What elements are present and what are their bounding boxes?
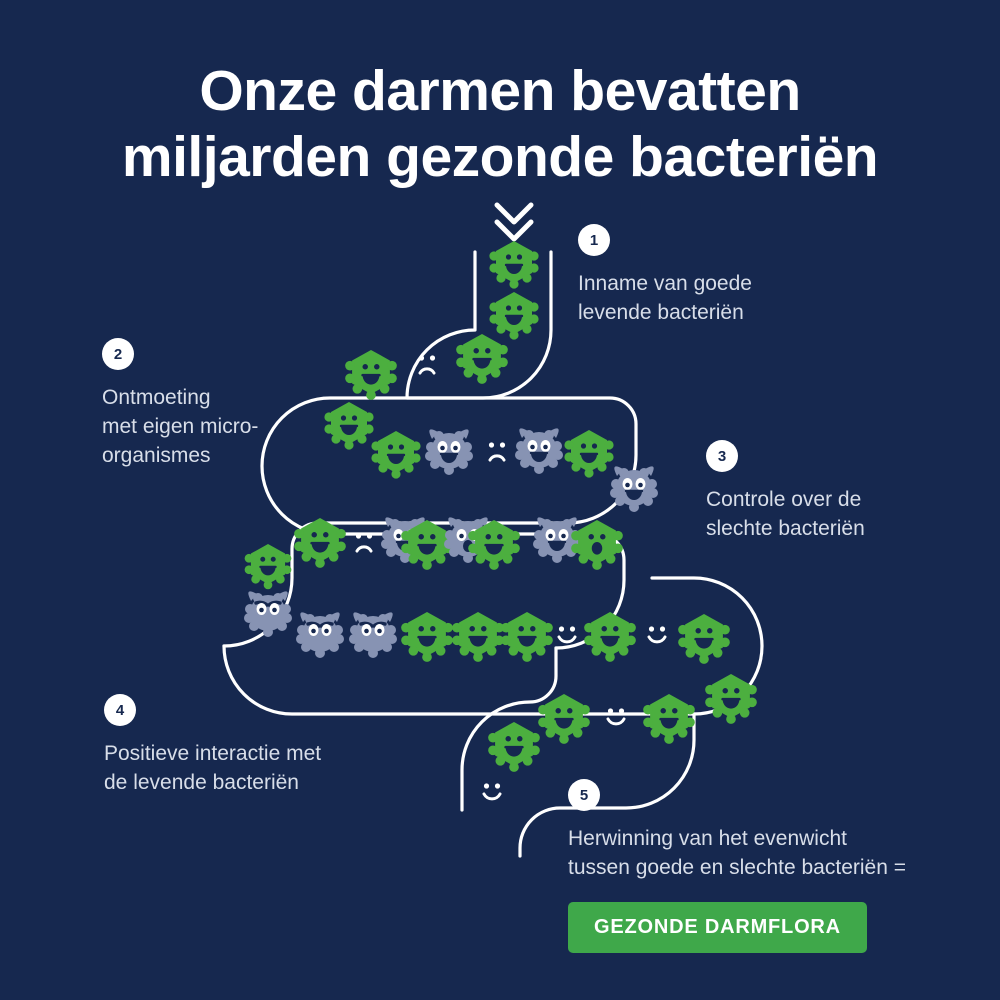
step-4-badge: 4 (104, 694, 136, 726)
bad-bacteria-icon (244, 591, 292, 637)
good-bacteria-icon (294, 518, 346, 568)
step-1: 1 Inname van goede levende bacteriën (578, 224, 752, 327)
good-bacteria-icon (345, 350, 397, 400)
step-4-text: Positieve interactie met de levende bact… (104, 739, 321, 797)
bad-bacteria-icon (349, 612, 397, 658)
good-bacteria-icon (584, 612, 636, 662)
sad-face-icon (489, 442, 505, 460)
good-bacteria-icon (489, 292, 538, 340)
good-bacteria-icon (564, 430, 613, 478)
good-bacteria-icon (324, 402, 373, 450)
double-chevron-down-icon (497, 205, 531, 239)
step-4: 4 Positieve interactie met de levende ba… (104, 694, 321, 797)
smile-face-icon (559, 626, 575, 641)
good-bacteria-icon (538, 694, 590, 744)
sad-face-icon (356, 533, 372, 551)
step-1-badge: 1 (578, 224, 610, 256)
good-bacteria-icon (452, 612, 504, 662)
good-bacteria-icon (456, 334, 508, 384)
sad-face-icon (419, 355, 435, 373)
bad-bacteria-icon (425, 429, 473, 475)
step-3-text: Controle over de slechte bacteriën (706, 485, 865, 543)
smile-face-icon (649, 626, 665, 641)
step-1-text: Inname van goede levende bacteriën (578, 269, 752, 327)
step-2-text: Ontmoeting met eigen micro- organismes (102, 383, 258, 470)
smile-face-icon (608, 708, 624, 723)
infographic-canvas: Onze darmen bevatten miljarden gezonde b… (0, 0, 1000, 1000)
healthy-gut-flora-badge: GEZONDE DARMFLORA (568, 902, 867, 953)
good-bacteria-icon (705, 674, 757, 724)
good-bacteria-icon (501, 612, 553, 662)
good-bacteria-icon (678, 614, 730, 664)
smile-face-icon (484, 783, 500, 798)
good-bacteria-icon (643, 694, 695, 744)
bad-bacteria-icon (515, 428, 563, 474)
step-3: 3 Controle over de slechte bacteriën (706, 440, 865, 543)
step-2-badge: 2 (102, 338, 134, 370)
step-5: 5 Herwinning van het evenwicht tussen go… (568, 779, 906, 953)
good-bacteria-icon (489, 241, 538, 289)
step-5-badge: 5 (568, 779, 600, 811)
good-bacteria-icon (571, 520, 623, 570)
bad-bacteria-icon (296, 612, 344, 658)
good-bacteria-icon (245, 544, 292, 589)
step-2: 2 Ontmoeting met eigen micro- organismes (102, 338, 258, 470)
step-3-badge: 3 (706, 440, 738, 472)
good-bacteria-icon (371, 431, 420, 479)
good-bacteria-icon (488, 722, 540, 772)
step-5-text: Herwinning van het evenwicht tussen goed… (568, 824, 906, 882)
bad-bacteria-icon (533, 517, 581, 563)
good-bacteria-icon (401, 612, 453, 662)
bad-bacteria-icon (610, 466, 658, 512)
